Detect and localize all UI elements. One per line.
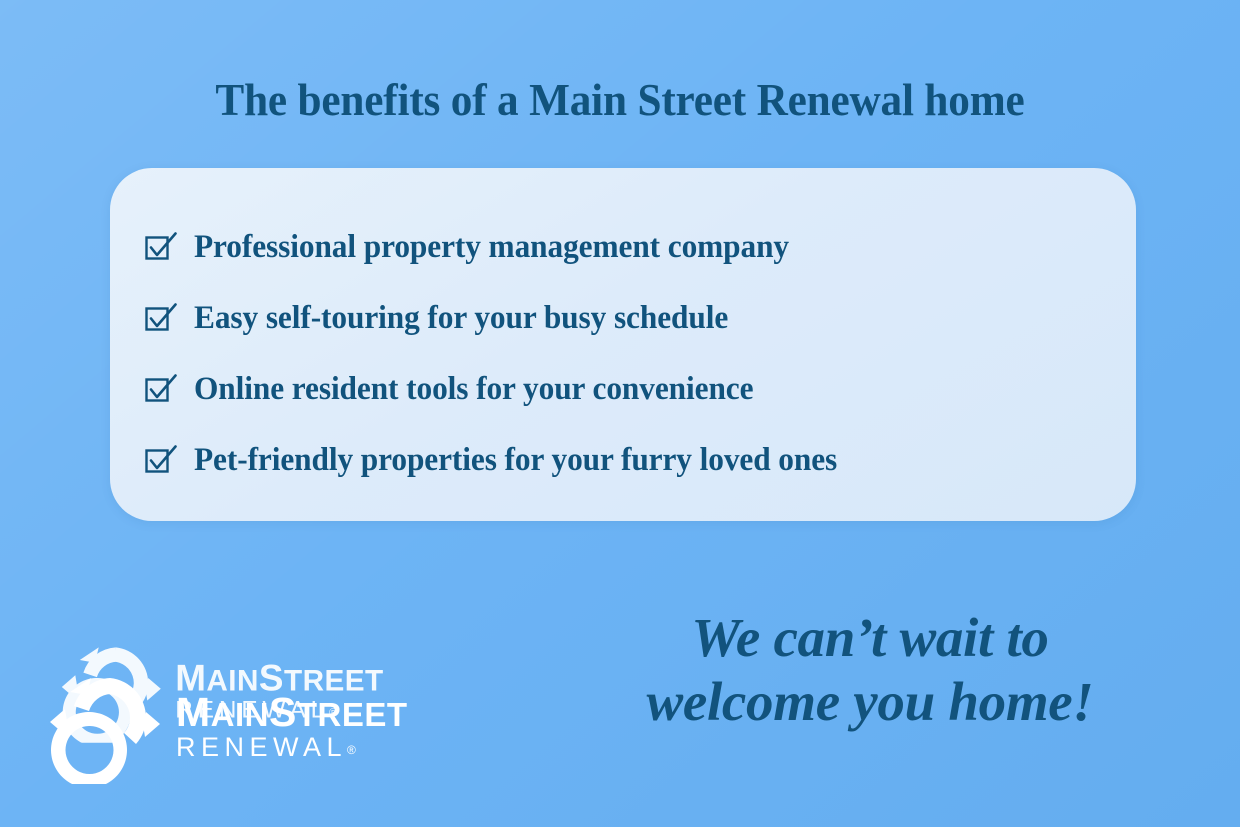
list-item-label: Online resident tools for your convenien… (194, 373, 753, 406)
benefits-list: Professional property management company… (110, 212, 1136, 496)
list-item: Pet-friendly properties for your furry l… (144, 425, 1096, 496)
list-item: Professional property management company (144, 212, 1096, 283)
main-street-renewal-circles-icon (48, 672, 168, 784)
list-item: Easy self-touring for your busy schedule (144, 283, 1096, 354)
list-item-label: Pet-friendly properties for your furry l… (194, 444, 837, 477)
benefits-card: Professional property management company… (110, 168, 1136, 521)
brand-logo[interactable]: MAINSTREET RENEWAL® (48, 672, 408, 784)
brand-wordmark-sub: RENEWAL® (176, 732, 408, 764)
checkbox-checked-icon (144, 301, 178, 335)
page-title: The benefits of a Main Street Renewal ho… (37, 76, 1203, 124)
tagline-line-2: welcome you home! (560, 670, 1180, 734)
brand-wordmark-main: MAINSTREET (176, 692, 408, 732)
list-item-label: Professional property management company (194, 231, 789, 264)
checkbox-checked-icon (144, 443, 178, 477)
brand-wordmark: MAINSTREET RENEWAL® (176, 692, 408, 764)
checkbox-checked-icon (144, 230, 178, 264)
tagline: We can’t wait to welcome you home! (560, 606, 1180, 735)
tagline-line-1: We can’t wait to (560, 606, 1180, 670)
list-item: Online resident tools for your convenien… (144, 354, 1096, 425)
list-item-label: Easy self-touring for your busy schedule (194, 302, 728, 335)
poster-canvas: The benefits of a Main Street Renewal ho… (0, 0, 1240, 827)
checkbox-checked-icon (144, 372, 178, 406)
